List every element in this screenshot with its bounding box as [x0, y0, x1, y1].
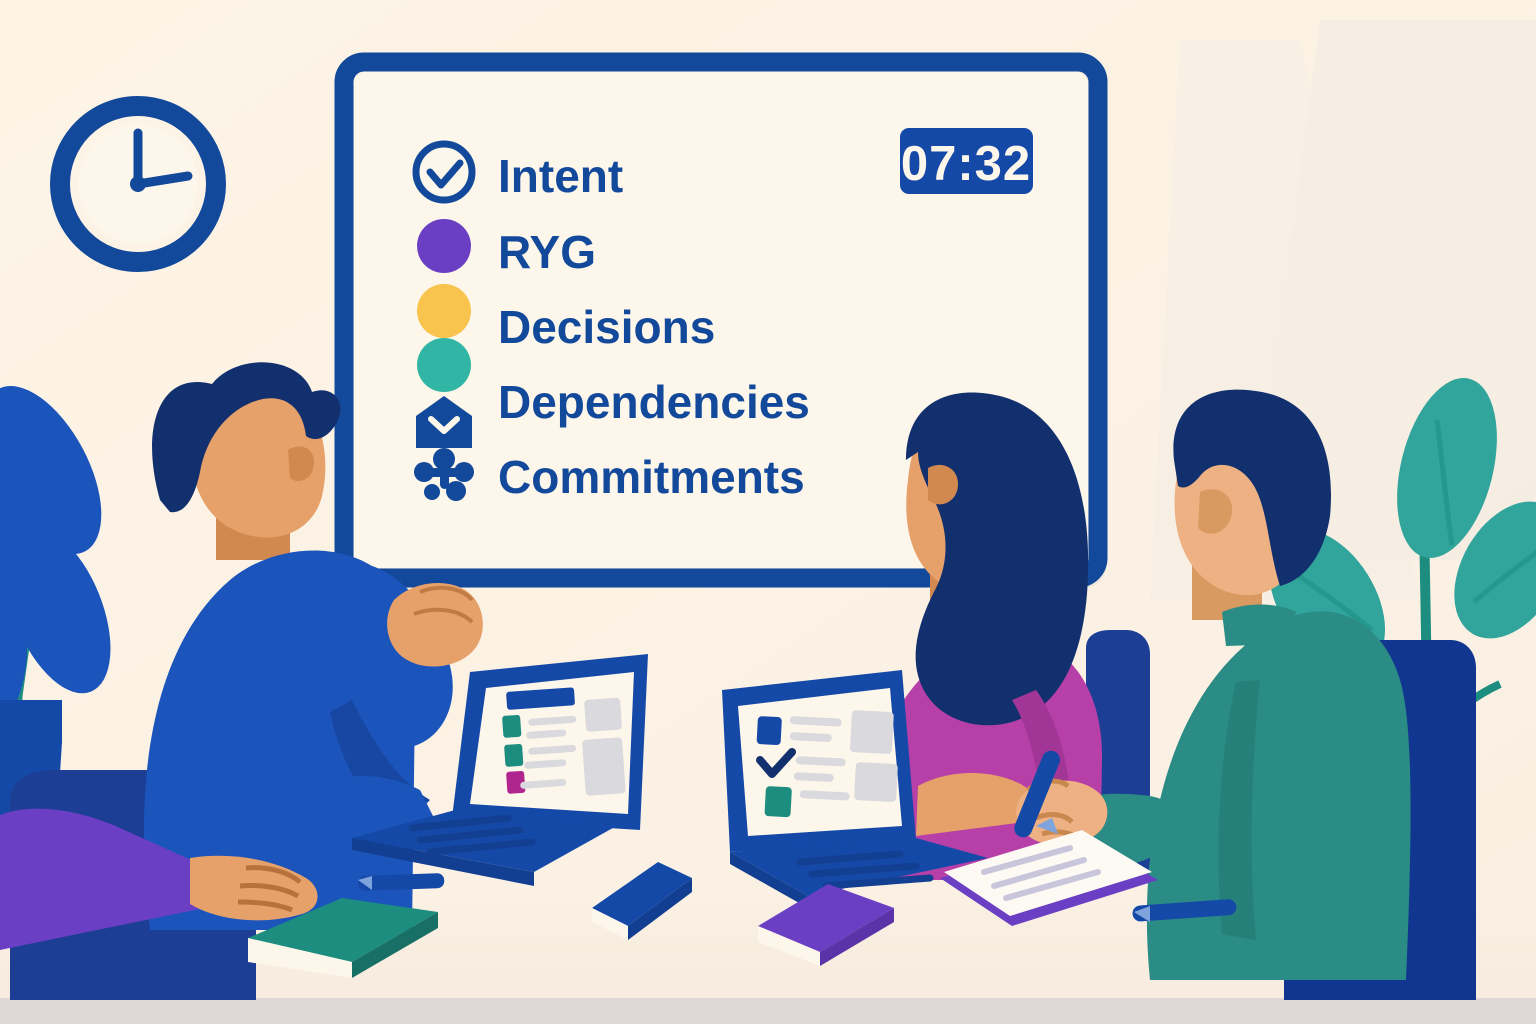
illustration-scene: Intent RYG Decisions Dependencies Commit…: [0, 0, 1536, 1024]
laptop-right-panel-1: [850, 710, 894, 754]
laptop-right-chip-blue: [757, 716, 782, 745]
pen-left: [358, 873, 444, 891]
agenda-label-1: RYG: [498, 226, 596, 278]
agenda-label-3: Dependencies: [498, 376, 810, 428]
laptop-left-panel-1: [584, 697, 622, 731]
agenda-label-4: Commitments: [498, 451, 805, 503]
laptop-right-panel-2: [854, 762, 898, 802]
wall-clock: [60, 106, 216, 262]
agenda-icon-yellow-dot: [417, 284, 471, 338]
laptop-right-chip-teal: [764, 786, 792, 817]
countdown-timer[interactable]: 07:32: [900, 128, 1033, 194]
agenda-label-2: Decisions: [498, 301, 715, 353]
laptop-left-chip-teal-1: [502, 715, 521, 738]
person-right-collar: [1222, 605, 1296, 647]
laptop-left-chip-teal-2: [504, 744, 523, 767]
clock-center-pin: [130, 176, 146, 192]
table-front-edge: [0, 998, 1536, 1024]
agenda-icon-teal-dot: [417, 338, 471, 392]
agenda-label-0: Intent: [498, 150, 623, 202]
laptop-left-panel-2: [582, 737, 626, 796]
agenda-icon-purple-dot: [417, 219, 471, 273]
timer-value: 07:32: [901, 137, 1031, 191]
